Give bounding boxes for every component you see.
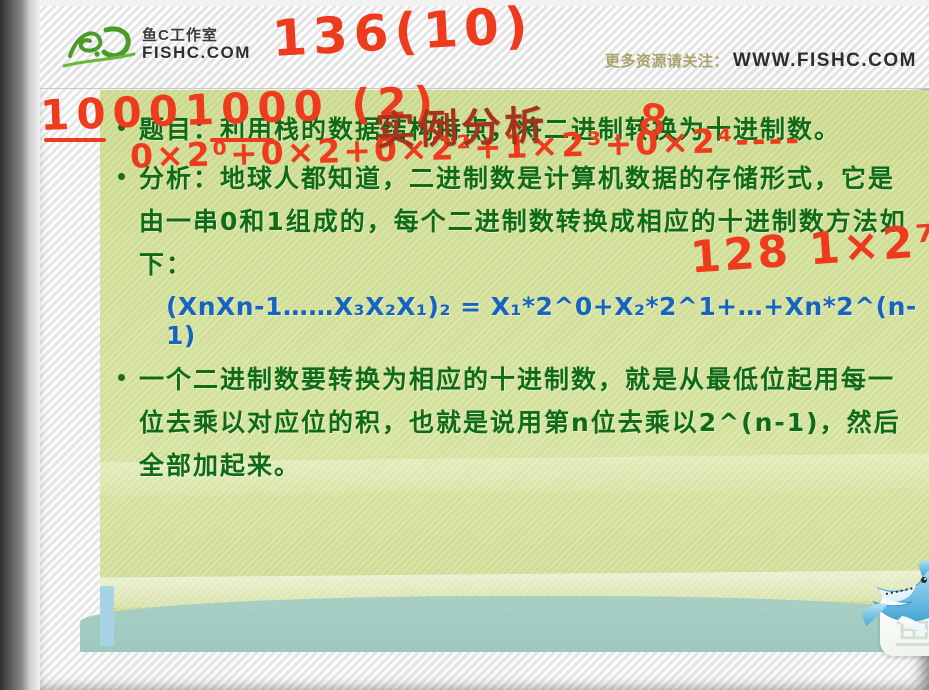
fishc-logo-text: 鱼C工作室 FISHC.COM bbox=[142, 28, 251, 62]
list-item: 分析：地球人都知道，二进制数是计算机数据的存储形式，它是由一串0和1组成的，每个… bbox=[114, 157, 919, 286]
promo-line: 更多资源请关注： WWW.FISHC.COM bbox=[605, 50, 917, 72]
footer-accent-tab bbox=[100, 586, 114, 646]
content-panel: 题目：利用栈的数据结构特点，将二进制转换为十进制数。 分析：地球人都知道，二进制… bbox=[100, 90, 929, 646]
fishc-logo: 鱼C工作室 FISHC.COM bbox=[60, 16, 251, 74]
logo-domain: FISHC.COM bbox=[142, 44, 251, 62]
list-item: 题目：利用栈的数据结构特点，将二进制转换为十进制数。 bbox=[114, 108, 919, 151]
bullet-dot-icon bbox=[118, 124, 125, 131]
bullet-text: 一个二进制数要转换为相应的十进制数，就是从最低位起用每一位去乘以对应位的积，也就… bbox=[139, 358, 919, 487]
promo-url: WWW.FISHC.COM bbox=[733, 50, 917, 72]
fishc-logo-icon bbox=[60, 16, 138, 74]
slide-banner: 鱼C工作室 FISHC.COM 更多资源请关注： WWW.FISHC.COM bbox=[40, 6, 929, 89]
shark-mascot-icon: 鱼 bbox=[858, 554, 929, 674]
bullet-text: 分析：地球人都知道，二进制数是计算机数据的存储形式，它是由一串0和1组成的，每个… bbox=[139, 157, 919, 286]
promo-label: 更多资源请关注： bbox=[605, 50, 729, 71]
logo-studio-name: 鱼C工作室 bbox=[142, 28, 251, 44]
footer-wave-decoration bbox=[80, 596, 929, 652]
bullet-list: 题目：利用栈的数据结构特点，将二进制转换为十进制数。 分析：地球人都知道，二进制… bbox=[114, 108, 919, 493]
bullet-text: 题目：利用栈的数据结构特点，将二进制转换为十进制数。 bbox=[139, 108, 841, 151]
bullet-dot-icon bbox=[118, 173, 125, 180]
list-item: 一个二进制数要转换为相应的十进制数，就是从最低位起用每一位去乘以对应位的积，也就… bbox=[114, 358, 919, 487]
conversion-formula: (XnXn-1……X₃X₂X₁)₂ = X₁*2^0+X₂*2^1+…+Xn*2… bbox=[166, 292, 919, 350]
slide-canvas: 鱼C工作室 FISHC.COM 更多资源请关注： WWW.FISHC.COM 题… bbox=[40, 6, 929, 690]
bullet-dot-icon bbox=[118, 374, 125, 381]
screen: 鱼C工作室 FISHC.COM 更多资源请关注： WWW.FISHC.COM 题… bbox=[0, 0, 929, 690]
